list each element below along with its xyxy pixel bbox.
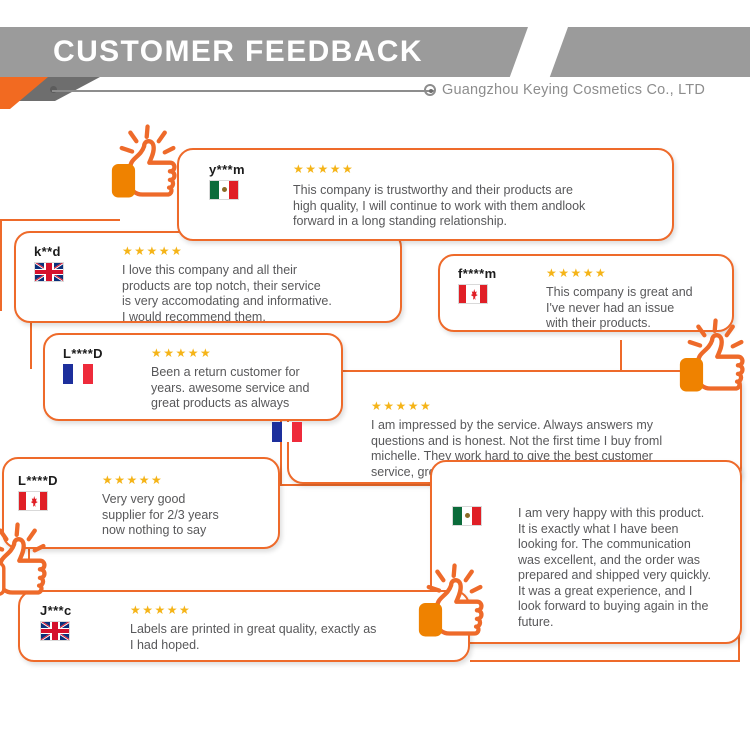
uk-flag [40,621,70,641]
review-text: Been a return customer for years. awesom… [151,365,331,412]
canada-flag [18,491,48,511]
target-icon [424,84,436,96]
feedback-infographic: CUSTOMER FEEDBACK Guangzhou Keying Cosme… [0,0,750,750]
review-card-2[interactable]: k**d ★★★★★ I love this company and all t… [14,231,402,323]
thumbs-up-icon [676,318,750,404]
uk-flag [34,262,64,282]
star-rating: ★★★★★ [151,347,212,359]
star-rating: ★★★★★ [546,267,607,279]
reviewer-name: y***m [209,162,245,177]
thumbs-up-icon [415,563,501,649]
review-text: I am very happy with this product. It is… [518,506,738,630]
connector-line-1 [0,219,120,221]
header-rule [52,90,435,92]
mexico-flag [452,506,482,526]
connector-line-2 [0,219,2,311]
reviewer-name: f****m [458,266,497,281]
star-rating: ★★★★★ [130,604,191,616]
reviewer-name: L****D [18,473,58,488]
review-card-4[interactable]: L****D ★★★★★ Been a return customer for … [43,333,343,421]
review-text: Very very good supplier for 2/3 years no… [102,492,274,539]
reviewer-name: L****D [63,346,103,361]
review-text: I love this company and all their produc… [122,263,384,325]
mexico-flag [209,180,239,200]
france-flag [63,364,93,384]
star-rating: ★★★★★ [293,163,354,175]
reviewer-name: k**d [34,244,61,259]
star-rating: ★★★★★ [102,474,163,486]
star-rating: ★★★★★ [122,245,183,257]
connector-line-10 [470,660,740,662]
review-card-1[interactable]: y***m ★★★★★ This company is trustworthy … [177,148,674,241]
review-card-8[interactable]: J***c ★★★★★ Labels are printed in great … [18,590,470,662]
thumbs-up-icon [0,522,64,608]
star-rating: ★★★★★ [371,400,432,412]
canada-flag [458,284,488,304]
company-name: Guangzhou Keying Cosmetics Co., LTD [442,82,705,98]
france-flag-review-5 [272,422,302,442]
thumbs-up-icon [108,124,194,210]
page-title: CUSTOMER FEEDBACK [53,33,423,71]
review-text: This company is trustworthy and their pr… [293,183,665,230]
review-text: Labels are printed in great quality, exa… [130,622,452,653]
